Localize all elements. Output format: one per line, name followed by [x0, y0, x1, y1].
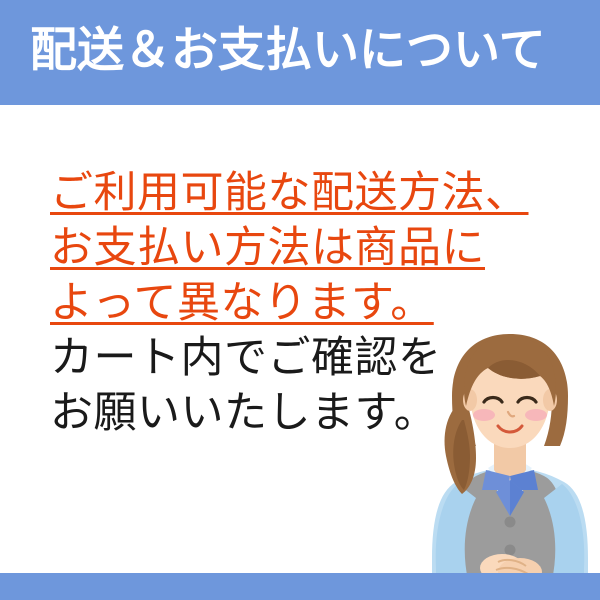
header-band: 配送＆お支払いについて [0, 0, 600, 105]
shipping-payment-banner: 配送＆お支払いについて ご利用可能な配送方法、 お支払い方法は商品に よって異な… [0, 0, 600, 600]
right-blush [525, 409, 547, 421]
clerk-illustration [420, 330, 600, 580]
footer-band [0, 573, 600, 600]
left-blush [473, 409, 495, 421]
vest-button-bottom [505, 545, 516, 556]
body-line-1: ご利用可能な配送方法、 [50, 166, 570, 221]
body-line-2: お支払い方法は商品に [50, 221, 570, 276]
vest-button-top [505, 517, 516, 528]
page-title: 配送＆お支払いについて [30, 20, 575, 80]
body-line-3: よって異なります。 [50, 276, 570, 331]
